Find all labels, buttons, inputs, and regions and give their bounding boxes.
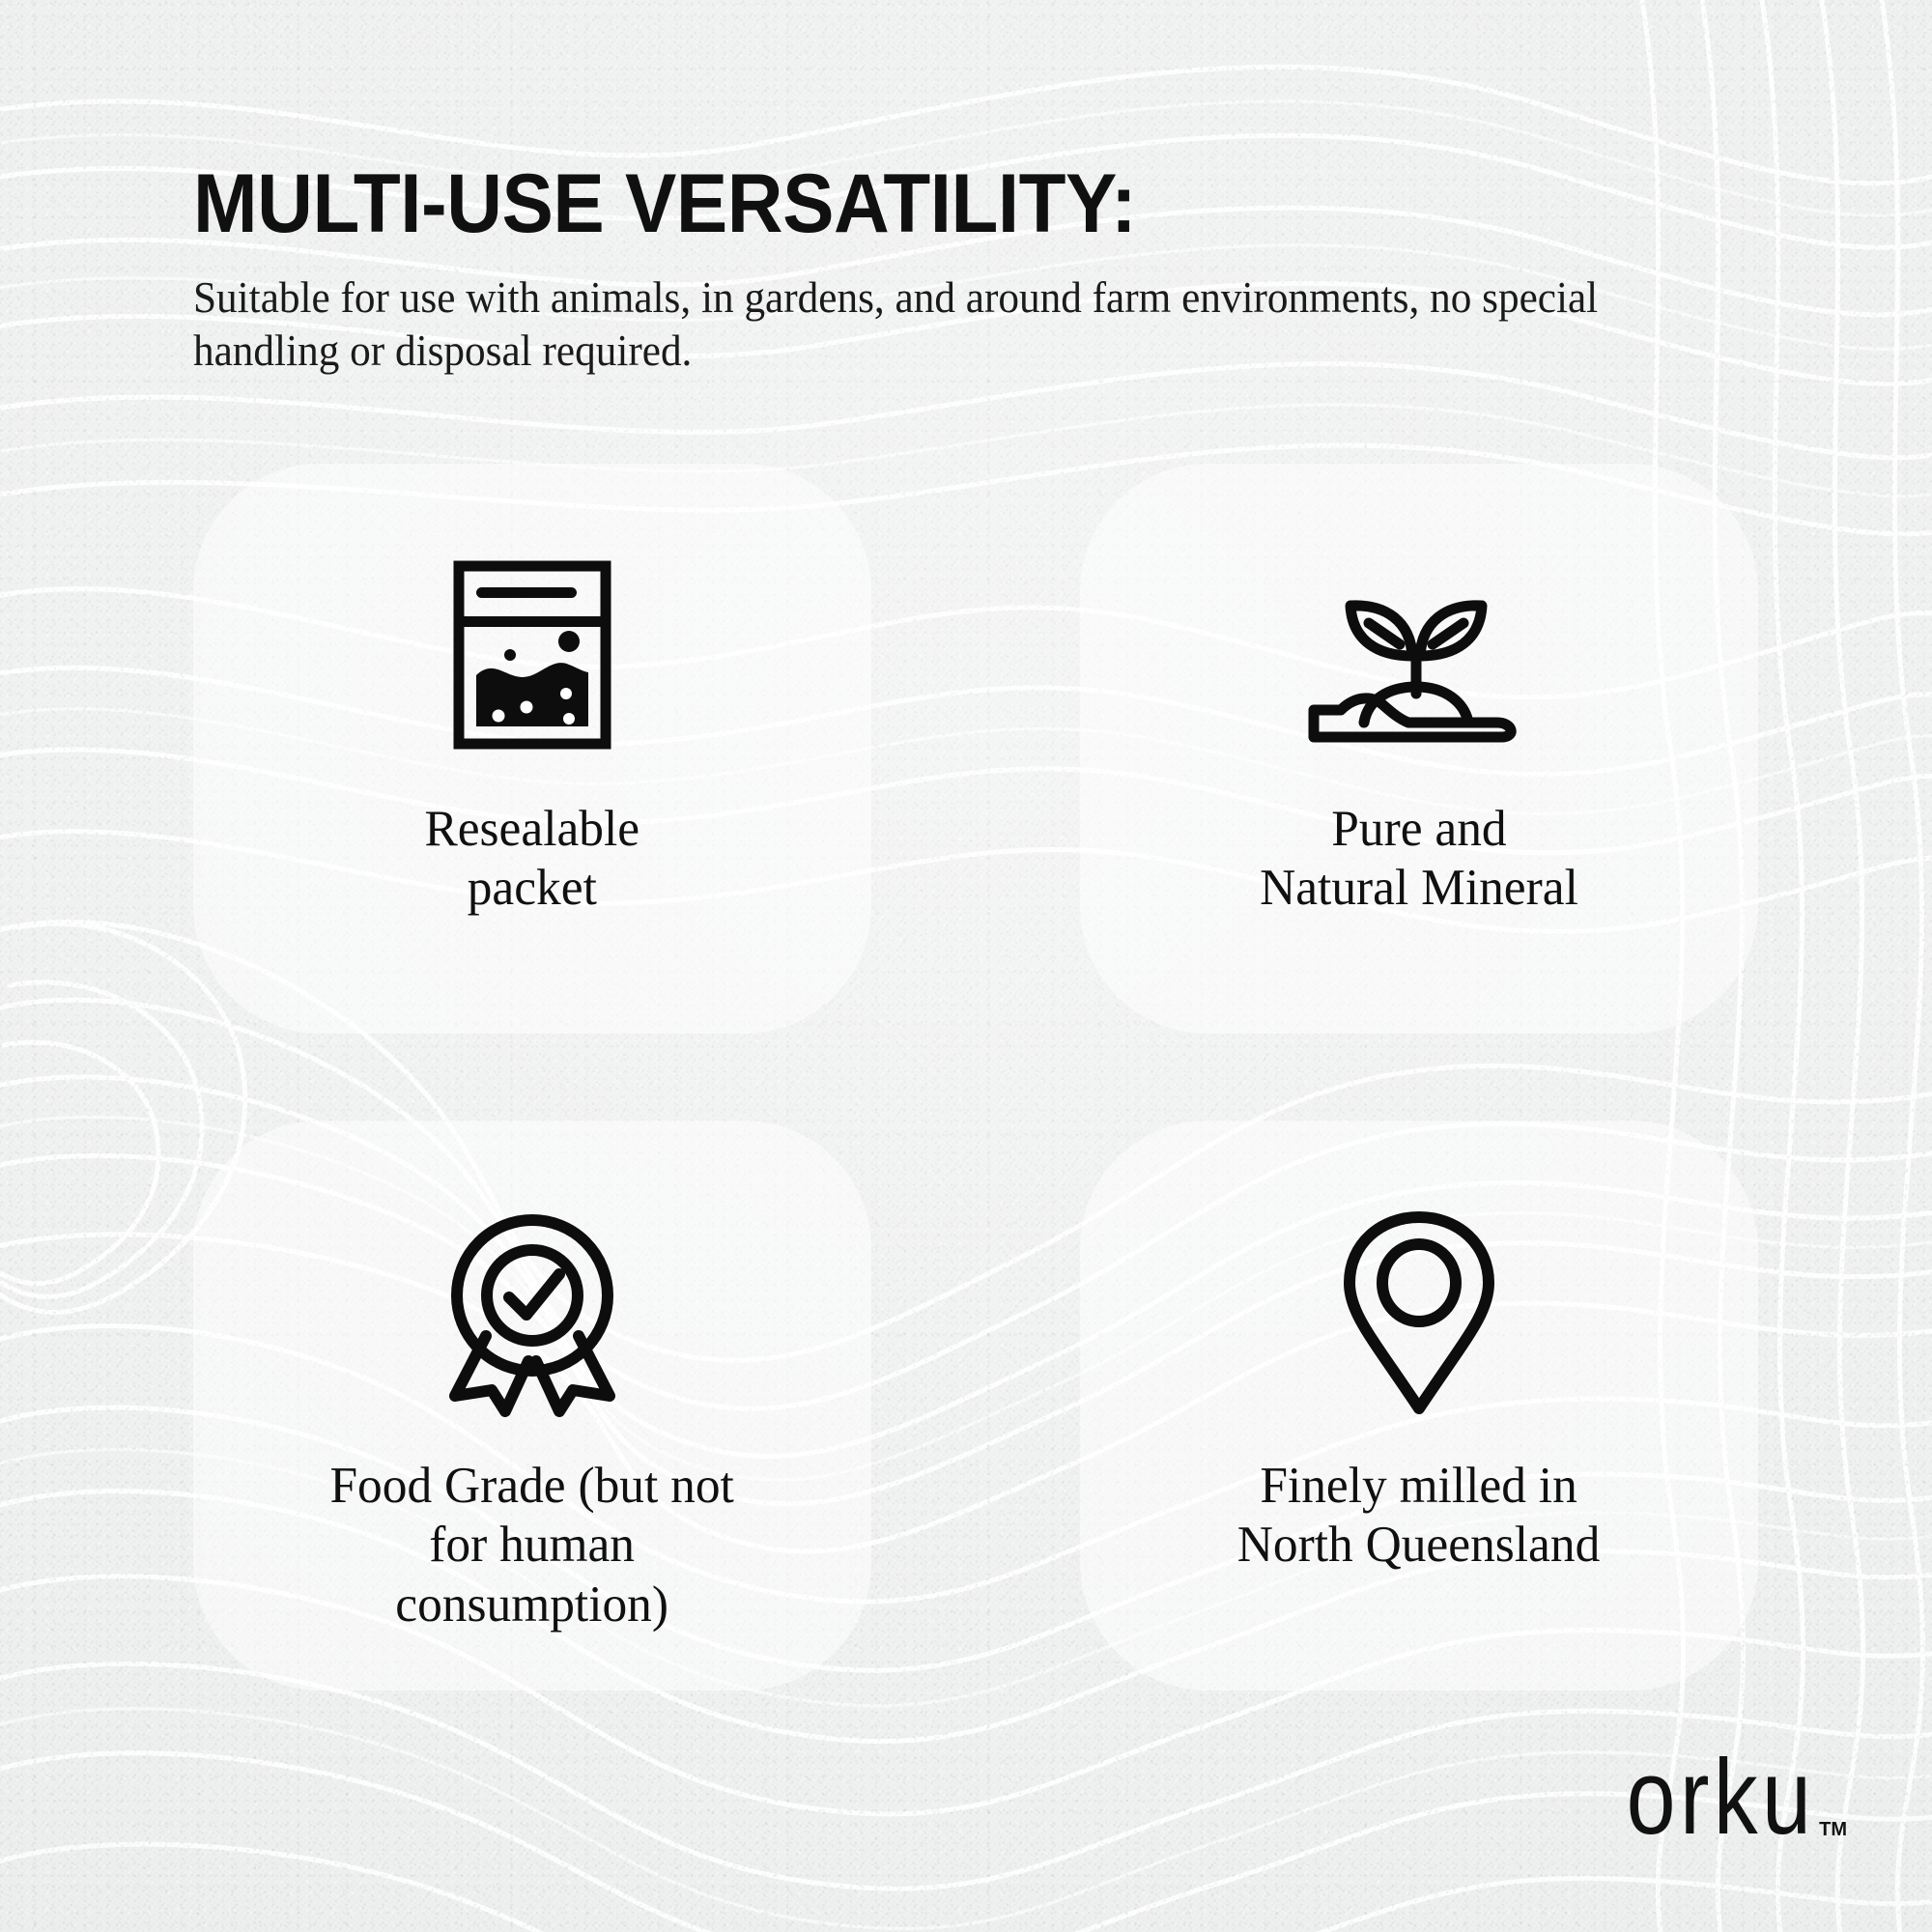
poster-canvas: MULTI-USE VERSATILITY: Suitable for use … [0,0,1932,1932]
sprout-in-hand-icon [1308,553,1530,757]
brand-logo[interactable]: orku TM [1601,1750,1847,1851]
feature-card-food-grade[interactable]: Food Grade (but not for human consumptio… [193,1121,871,1690]
feature-card-resealable-packet[interactable]: Resealable packet [193,464,871,1034]
page-subtitle: Suitable for use with animals, in garden… [193,270,1683,377]
feature-card-north-queensland[interactable]: Finely milled in North Queensland [1080,1121,1758,1690]
feature-card-label: Finely milled in North Queensland [1213,1457,1625,1576]
feature-card-label: Food Grade (but not for human consumptio… [306,1457,759,1634]
trademark-symbol: TM [1819,1820,1847,1839]
brand-logo-wordmark: orku [1626,1745,1815,1851]
feature-card-label: Pure and Natural Mineral [1236,800,1603,919]
resealable-packet-icon [451,553,613,757]
header-block: MULTI-USE VERSATILITY: Suitable for use … [193,162,1777,377]
feature-card-pure-natural-mineral[interactable]: Pure and Natural Mineral [1080,464,1758,1034]
page-title: MULTI-USE VERSATILITY: [193,162,1666,245]
feature-card-label: Resealable packet [400,800,664,919]
location-pin-icon [1338,1209,1500,1414]
award-check-badge-icon [436,1209,629,1414]
feature-card-grid: Resealable packet [193,464,1758,1690]
